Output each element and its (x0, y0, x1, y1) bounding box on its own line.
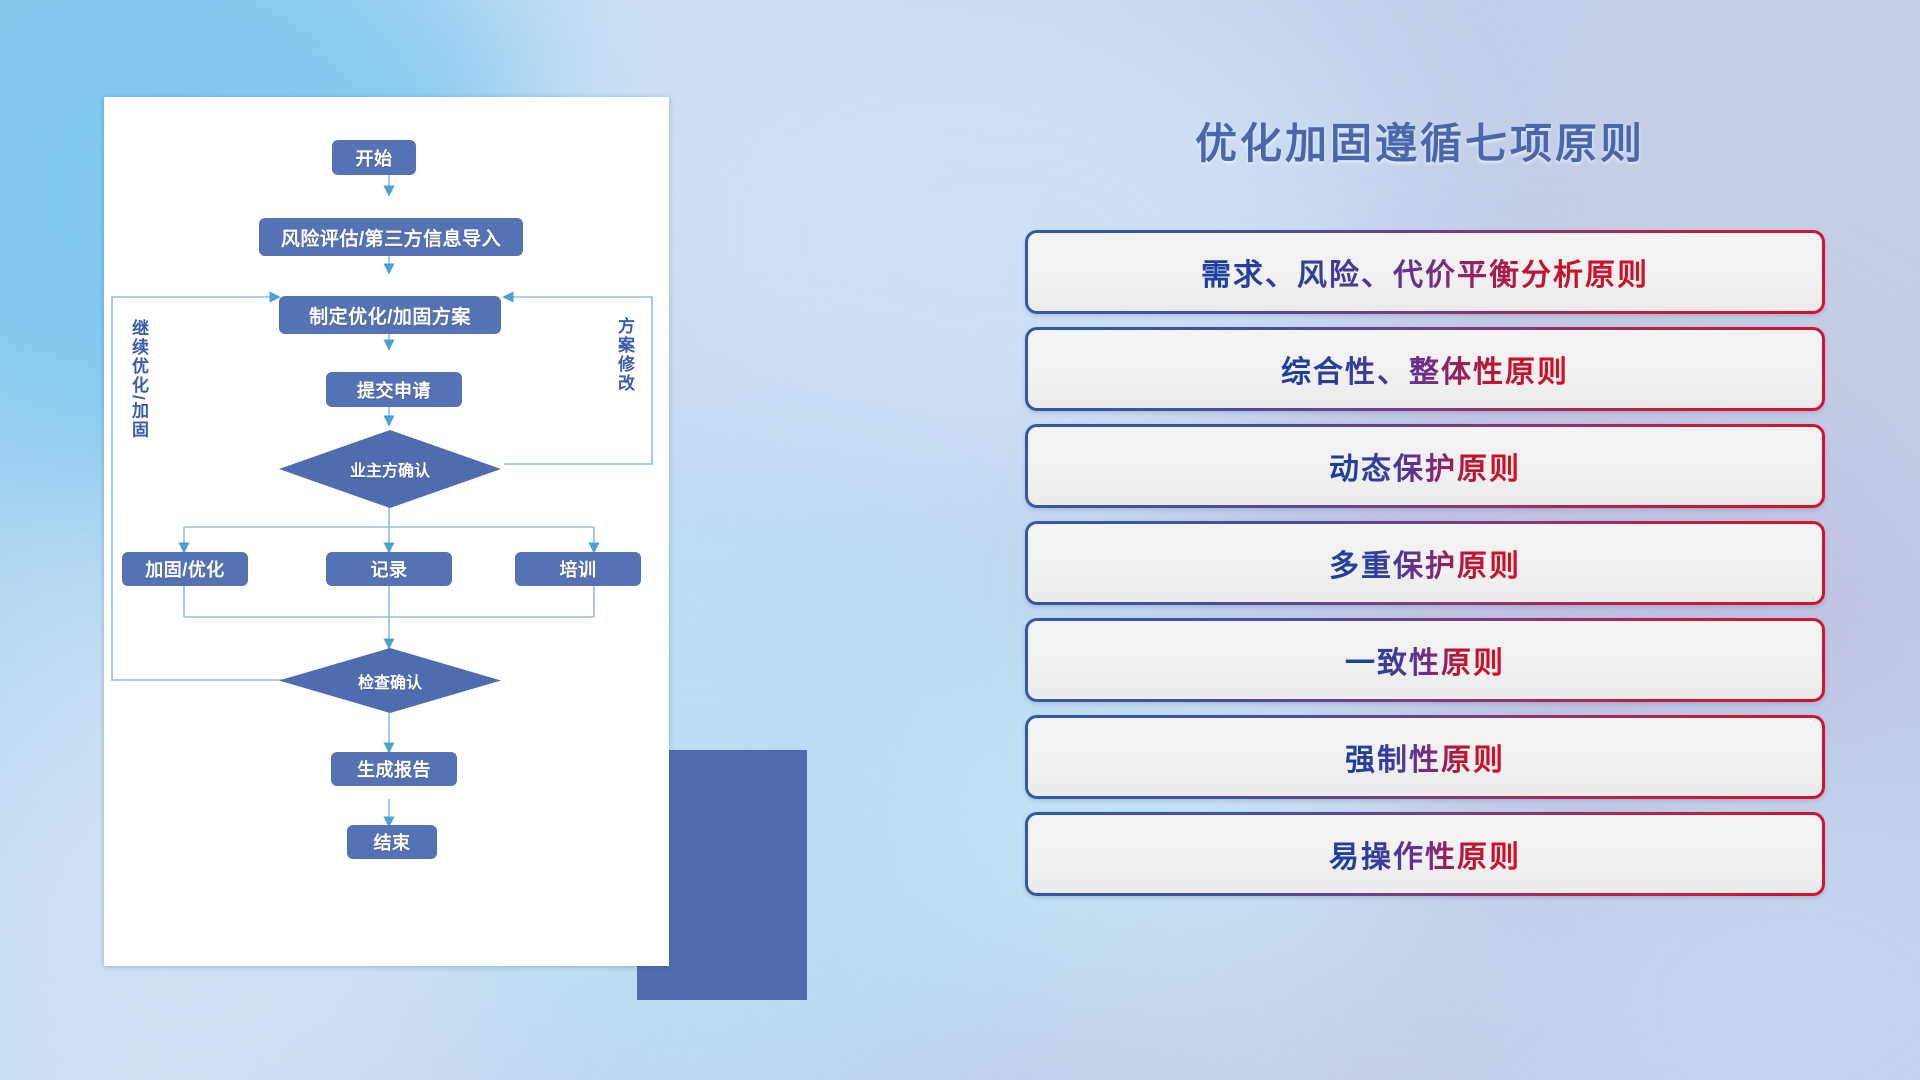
principle-item-1[interactable]: 需求、风险、代价平衡分析原则 (1025, 230, 1825, 314)
principle-item-6-inner: 强制性原则 (1028, 718, 1822, 796)
flow-node-end-label: 结束 (374, 829, 411, 855)
flow-node-risk-assessment[interactable]: 风险评估/第三方信息导入 (259, 218, 523, 256)
principles-panel: 优化加固遵循七项原则 需求、风险、代价平衡分析原则 综合性、整体性原则 动态保护… (1000, 0, 1920, 1080)
flow-node-generate-report[interactable]: 生成报告 (331, 752, 457, 786)
principle-item-1-label: 需求、风险、代价平衡分析原则 (1201, 250, 1649, 294)
principle-item-7-label: 易操作性原则 (1329, 832, 1521, 876)
flow-node-training[interactable]: 培训 (515, 552, 641, 586)
principle-item-2-label: 综合性、整体性原则 (1281, 347, 1569, 391)
flow-node-submit-application-label: 提交申请 (357, 377, 431, 403)
principle-item-4-inner: 多重保护原则 (1028, 524, 1822, 602)
flowchart-card: 开始 风险评估/第三方信息导入 制定优化/加固方案 提交申请 业主方确认 加固/… (104, 97, 669, 966)
principle-item-2-inner: 综合性、整体性原则 (1028, 330, 1822, 408)
principle-item-4-label: 多重保护原则 (1329, 541, 1521, 585)
flow-node-reinforce-optimize[interactable]: 加固/优化 (122, 552, 248, 586)
flow-node-reinforce-optimize-label: 加固/优化 (145, 556, 225, 582)
flow-node-start-label: 开始 (356, 145, 393, 171)
flowchart-panel: 开始 风险评估/第三方信息导入 制定优化/加固方案 提交申请 业主方确认 加固/… (0, 0, 860, 1080)
flow-decision-inspection-confirm-label: 检查确认 (358, 669, 422, 693)
flow-node-start[interactable]: 开始 (332, 140, 416, 175)
principle-item-4[interactable]: 多重保护原则 (1025, 521, 1825, 605)
principle-item-3[interactable]: 动态保护原则 (1025, 424, 1825, 508)
page-title: 优化加固遵循七项原则 (1000, 110, 1840, 171)
flow-node-make-plan[interactable]: 制定优化/加固方案 (279, 296, 501, 334)
flow-node-submit-application[interactable]: 提交申请 (326, 372, 462, 407)
flow-node-training-label: 培训 (560, 556, 597, 582)
principle-item-3-inner: 动态保护原则 (1028, 427, 1822, 505)
flow-decision-owner-confirm-label: 业主方确认 (350, 457, 430, 481)
flow-node-make-plan-label: 制定优化/加固方案 (309, 302, 471, 329)
principle-item-6[interactable]: 强制性原则 (1025, 715, 1825, 799)
flow-edge-label-continue-optimize: 继续优化/加固 (126, 319, 151, 440)
principle-item-6-label: 强制性原则 (1345, 735, 1505, 779)
principle-item-5-label: 一致性原则 (1345, 638, 1505, 682)
principle-item-3-label: 动态保护原则 (1329, 444, 1521, 488)
principle-item-5-inner: 一致性原则 (1028, 621, 1822, 699)
principle-item-7[interactable]: 易操作性原则 (1025, 812, 1825, 896)
flow-node-record[interactable]: 记录 (326, 552, 452, 586)
principle-item-5[interactable]: 一致性原则 (1025, 618, 1825, 702)
flow-node-generate-report-label: 生成报告 (357, 756, 431, 782)
flow-node-record-label: 记录 (371, 556, 408, 582)
flow-node-end[interactable]: 结束 (347, 825, 437, 859)
flow-edge-label-plan-revision: 方案修改 (612, 317, 637, 393)
flow-node-risk-assessment-label: 风险评估/第三方信息导入 (281, 224, 501, 251)
principles-list: 需求、风险、代价平衡分析原则 综合性、整体性原则 动态保护原则 多重保护原则 一… (1025, 230, 1825, 909)
principle-item-2[interactable]: 综合性、整体性原则 (1025, 327, 1825, 411)
principle-item-7-inner: 易操作性原则 (1028, 815, 1822, 893)
principle-item-1-inner: 需求、风险、代价平衡分析原则 (1028, 233, 1822, 311)
